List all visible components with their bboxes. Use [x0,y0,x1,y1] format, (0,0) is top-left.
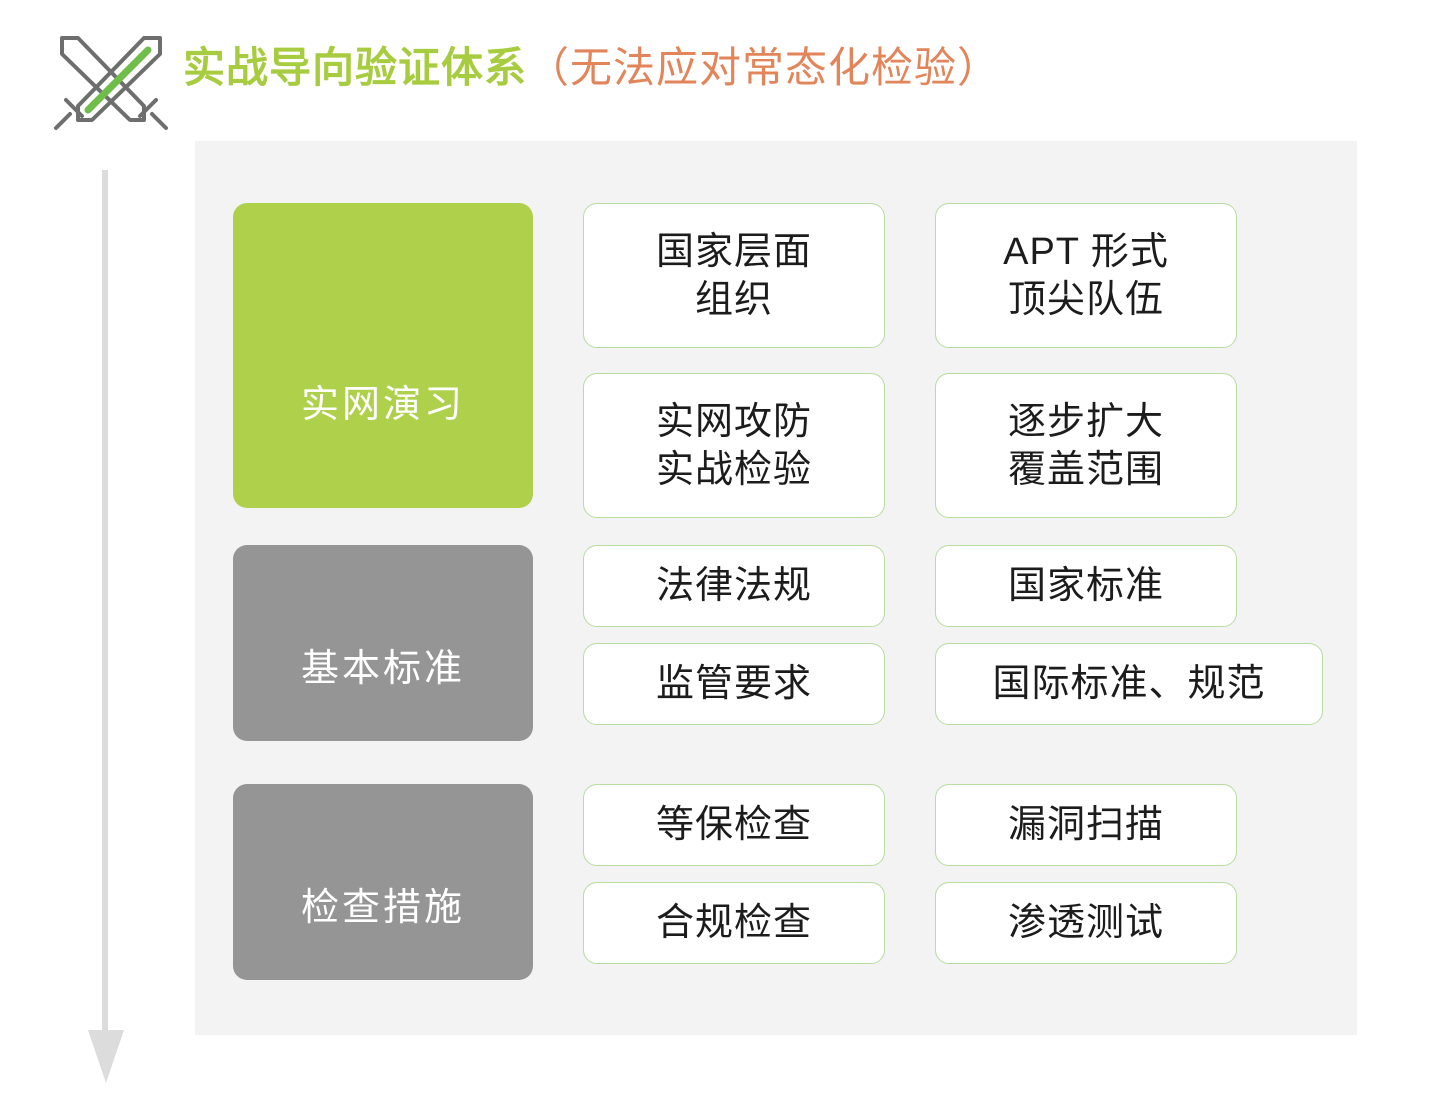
item-card-shentou-ceshi[interactable]: 渗透测试 [935,882,1237,964]
item-card-guoji-biaozhun-guifan[interactable]: 国际标准、规范 [935,643,1323,725]
category-block-jiancha-cuoshi[interactable]: 检查措施 [233,784,533,980]
category-block-shiwang-yanxi[interactable]: 实网演习 [233,203,533,508]
item-card-hegui-jiancha[interactable]: 合规检查 [583,882,885,964]
page-header: 实战导向验证体系（无法应对常态化检验） [0,0,1442,140]
down-arrow-icon [88,170,124,1085]
matrix-row-shiwang-yanxi: 实网演习 国家层面 组织 APT 形式 顶尖队伍 实网攻防 实战检验 逐步扩大 … [195,203,1357,513]
item-card-zhubu-kuoda-fugai[interactable]: 逐步扩大 覆盖范围 [935,373,1237,518]
page-title-main: 实战导向验证体系 [183,44,527,91]
matrix-row-jiancha-cuoshi: 检查措施 等保检查 漏洞扫描 合规检查 渗透测试 [195,784,1357,980]
item-card-guojia-cengmian-zuzhi[interactable]: 国家层面 组织 [583,203,885,348]
item-card-shiwang-gongfang[interactable]: 实网攻防 实战检验 [583,373,885,518]
page-title-sub: （无法应对常态化检验） [527,44,1000,91]
item-card-guojia-biaozhun[interactable]: 国家标准 [935,545,1237,627]
matrix-panel: 实网演习 国家层面 组织 APT 形式 顶尖队伍 实网攻防 实战检验 逐步扩大 … [195,141,1357,1035]
item-card-loudong-saomiao[interactable]: 漏洞扫描 [935,784,1237,866]
category-block-jiben-biaozhun[interactable]: 基本标准 [233,545,533,741]
crossed-swords-icon [48,28,174,138]
page-title: 实战导向验证体系（无法应对常态化检验） [183,40,1000,96]
item-card-falv-fagui[interactable]: 法律法规 [583,545,885,627]
matrix-row-jiben-biaozhun: 基本标准 法律法规 国家标准 监管要求 国际标准、规范 [195,545,1357,741]
item-card-jianguan-yaoqiu[interactable]: 监管要求 [583,643,885,725]
item-card-dengbao-jiancha[interactable]: 等保检查 [583,784,885,866]
item-card-apt-dingjian-duiwu[interactable]: APT 形式 顶尖队伍 [935,203,1237,348]
